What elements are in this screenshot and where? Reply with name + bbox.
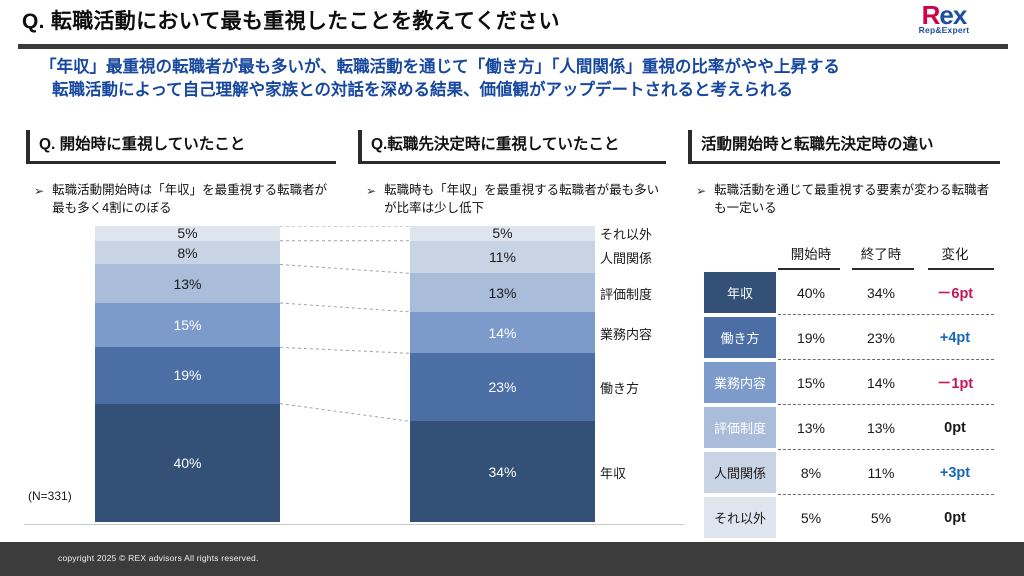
bar-segment: 13% xyxy=(95,264,280,302)
table-row: 評価制度13%13%0pt xyxy=(704,405,1004,450)
table-cell-start: 19% xyxy=(776,330,846,346)
table-cell-category: 年収 xyxy=(704,272,776,313)
table-header-change: 変化 xyxy=(916,243,994,263)
table-cell-category: 業務内容 xyxy=(704,362,776,403)
chart-category-label: それ以外 xyxy=(600,224,652,243)
stacked-bar-chart: 5%8%13%15%19%40% 5%11%13%14%23%34% それ以外人… xyxy=(0,226,690,526)
panel-heading-end-label: Q.転職先決定時に重視していたこと xyxy=(362,130,666,160)
table-cell-start: 15% xyxy=(776,375,846,391)
table-cell-change: 0pt xyxy=(916,420,994,436)
slide-header: Q. 転職活動において最も重視したことを教えてください Rex Rep&Expe… xyxy=(0,0,1024,46)
panel-heading-diff-label: 活動開始時と転職先決定時の違い xyxy=(692,130,1000,160)
panel-bullet-diff-text: 転職活動を通じて最重視する要素が変わる転職者も一定いる xyxy=(714,181,996,217)
table-row: 働き方19%23%+4pt xyxy=(704,315,1004,360)
table-header-row: 開始時 終了時 変化 xyxy=(704,236,1004,270)
bar-segment: 8% xyxy=(95,241,280,265)
table-row: それ以外5%5%0pt xyxy=(704,495,1004,540)
bar-start-time: 5%8%13%15%19%40% xyxy=(95,226,280,522)
panel-bullet-end: ➢ 転職時も「年収」を最重視する転職者が最も多いが比率は少し低下 xyxy=(366,181,662,217)
bar-segment-value: 15% xyxy=(173,317,201,333)
table-cell-end: 14% xyxy=(846,375,916,391)
table-cell-end: 34% xyxy=(846,285,916,301)
bar-segment: 23% xyxy=(410,353,595,421)
subtitle-line-1: 「年収」最重視の転職者が最も多いが、転職活動を通じて「働き方」「人間関係」重視の… xyxy=(40,56,1024,79)
table-header-end: 終了時 xyxy=(846,243,916,263)
table-cell-end: 11% xyxy=(846,465,916,481)
bar-segment: 15% xyxy=(95,303,280,347)
chart-category-label: 業務内容 xyxy=(600,324,652,343)
table-cell-change: 0pt xyxy=(916,510,994,526)
panel-bullet-start-text: 転職活動開始時は「年収」を最重視する転職者が最も多く4割にのぼる xyxy=(52,181,334,217)
bar-segment-value: 34% xyxy=(488,464,516,480)
chart-category-label: 評価制度 xyxy=(600,284,652,303)
panel-heading-end: Q.転職先決定時に重視していたこと xyxy=(358,130,666,164)
panel-heading-start: Q. 開始時に重視していたこと xyxy=(26,130,336,164)
bar-segment-value: 14% xyxy=(488,325,516,341)
chart-category-label: 人間関係 xyxy=(600,248,652,267)
table-cell-category: 人間関係 xyxy=(704,452,776,493)
bar-segment-value: 5% xyxy=(177,225,197,241)
table-cell-change: －6pt xyxy=(916,282,994,303)
table-row: 人間関係8%11%+3pt xyxy=(704,450,1004,495)
bar-segment: 34% xyxy=(410,421,595,522)
table-cell-change: －1pt xyxy=(916,372,994,393)
panel-bullet-diff: ➢ 転職活動を通じて最重視する要素が変わる転職者も一定いる xyxy=(696,181,996,217)
bar-segment: 40% xyxy=(95,404,280,522)
table-row: 年収40%34%－6pt xyxy=(704,270,1004,315)
bar-segment-value: 5% xyxy=(492,225,512,241)
panel-heading-start-label: Q. 開始時に重視していたこと xyxy=(30,130,336,160)
bar-segment: 14% xyxy=(410,312,595,353)
copyright-text: copyright 2025 © REX advisors All rights… xyxy=(58,553,259,563)
logo-tagline: Rep&Expert xyxy=(884,25,1004,35)
table-cell-start: 13% xyxy=(776,420,846,436)
chart-category-label: 働き方 xyxy=(600,378,639,397)
segment-connectors xyxy=(280,226,410,522)
table-cell-end: 23% xyxy=(846,330,916,346)
bar-segment-value: 19% xyxy=(173,367,201,383)
chart-category-label: 年収 xyxy=(600,463,626,482)
table-cell-change: +3pt xyxy=(916,465,994,481)
table-cell-start: 5% xyxy=(776,510,846,526)
chart-category-labels: それ以外人間関係評価制度業務内容働き方年収 xyxy=(600,226,690,522)
bar-segment-value: 13% xyxy=(173,276,201,292)
bar-end-time: 5%11%13%14%23%34% xyxy=(410,226,595,522)
panel-heading-diff: 活動開始時と転職先決定時の違い xyxy=(688,130,1000,164)
sample-size-note: (N=331) xyxy=(28,489,72,503)
table-cell-category: それ以外 xyxy=(704,497,776,538)
page-title: Q. 転職活動において最も重視したことを教えてください xyxy=(22,5,560,35)
bar-segment-value: 23% xyxy=(488,379,516,395)
table-cell-change: +4pt xyxy=(916,330,994,346)
table-header-start: 開始時 xyxy=(776,243,846,263)
bar-segment-value: 8% xyxy=(177,245,197,261)
table-cell-start: 8% xyxy=(776,465,846,481)
bar-segment: 5% xyxy=(95,226,280,241)
bar-segment: 5% xyxy=(410,226,595,241)
table-cell-end: 5% xyxy=(846,510,916,526)
table-cell-category: 働き方 xyxy=(704,317,776,358)
rex-logo: Rex Rep&Expert xyxy=(884,2,1004,40)
table-body: 年収40%34%－6pt働き方19%23%+4pt業務内容15%14%－1pt評… xyxy=(704,270,1004,540)
subtitle-block: 「年収」最重視の転職者が最も多いが、転職活動を通じて「働き方」「人間関係」重視の… xyxy=(0,56,1024,102)
comparison-table: 開始時 終了時 変化 年収40%34%－6pt働き方19%23%+4pt業務内容… xyxy=(704,236,1004,540)
subtitle-line-2: 転職活動によって自己理解や家族との対話を深める結果、価値観がアップデートされると… xyxy=(52,79,1024,102)
table-cell-category: 評価制度 xyxy=(704,407,776,448)
bar-segment-value: 11% xyxy=(489,249,516,265)
table-cell-start: 40% xyxy=(776,285,846,301)
title-divider xyxy=(18,44,1008,49)
arrow-bullet-icon: ➢ xyxy=(34,181,44,217)
slide-footer: copyright 2025 © REX advisors All rights… xyxy=(0,542,1024,576)
bar-segment-value: 13% xyxy=(488,285,516,301)
bar-segment: 11% xyxy=(410,241,595,274)
arrow-bullet-icon: ➢ xyxy=(696,181,706,217)
bar-segment: 19% xyxy=(95,347,280,403)
bar-segment-value: 40% xyxy=(173,455,201,471)
chart-baseline xyxy=(24,524,684,525)
bar-segment: 13% xyxy=(410,273,595,311)
table-row: 業務内容15%14%－1pt xyxy=(704,360,1004,405)
panel-bullet-end-text: 転職時も「年収」を最重視する転職者が最も多いが比率は少し低下 xyxy=(384,181,662,217)
arrow-bullet-icon: ➢ xyxy=(366,181,376,217)
panel-bullet-start: ➢ 転職活動開始時は「年収」を最重視する転職者が最も多く4割にのぼる xyxy=(34,181,334,217)
table-cell-end: 13% xyxy=(846,420,916,436)
